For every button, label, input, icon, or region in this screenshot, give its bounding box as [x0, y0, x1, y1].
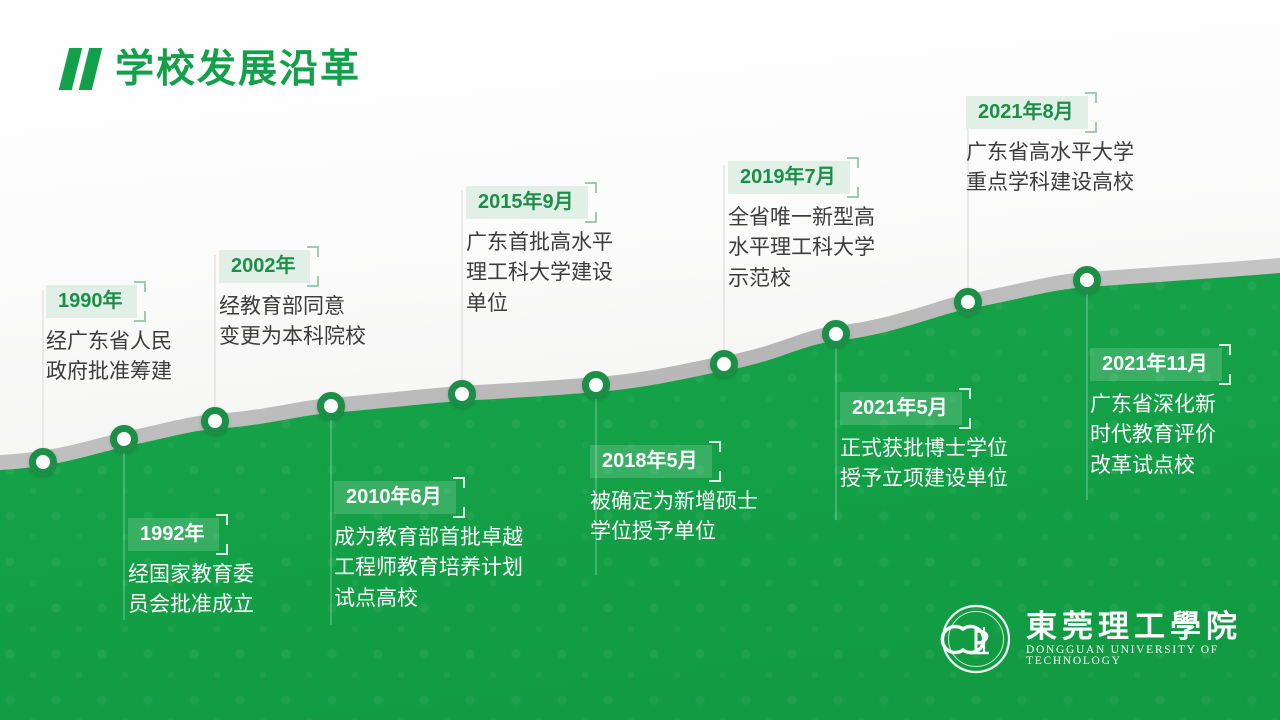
timeline-event-date: 2021年11月 — [1090, 348, 1222, 381]
timeline-event-date: 2010年6月 — [334, 481, 456, 514]
timeline-event[interactable]: 2010年6月 成为教育部首批卓越 工程师教育培养计划 试点高校 — [334, 481, 523, 614]
timeline-event-desc: 广东省深化新 时代教育评价 改革试点校 — [1090, 390, 1222, 481]
slide-canvas: 学校发展沿革 1990年 经广东省人民 政府批准筹建 1992年 经国家教育委 … — [0, 0, 1280, 720]
timeline-event[interactable]: 2021年5月 正式获批博士学位 授予立项建设单位 — [840, 392, 1008, 495]
timeline-event-date-text: 1992年 — [140, 523, 205, 545]
timeline-marker[interactable] — [582, 371, 610, 399]
timeline-marker[interactable] — [317, 392, 345, 420]
timeline-event-date: 1990年 — [46, 285, 137, 318]
timeline-event-date: 2021年5月 — [840, 392, 962, 425]
university-name-en: DONGGUAN UNIVERSITY OF TECHNOLOGY — [1026, 645, 1280, 668]
bracket-icon — [1220, 344, 1231, 385]
title-accent-bars-icon — [64, 48, 97, 90]
slide-header: 学校发展沿革 — [64, 48, 361, 90]
university-name-block: 東莞理工學院 DONGGUAN UNIVERSITY OF TECHNOLOGY — [1026, 611, 1280, 668]
bracket-icon — [217, 514, 228, 555]
bracket-icon — [308, 246, 319, 287]
timeline-event-date-text: 2019年7月 — [740, 166, 836, 188]
bracket-icon — [454, 477, 465, 518]
page-title: 学校发展沿革 — [115, 50, 361, 89]
timeline-marker[interactable] — [822, 320, 850, 348]
timeline-event-date: 2019年7月 — [728, 161, 850, 194]
timeline-marker[interactable] — [1073, 266, 1101, 294]
bracket-icon — [710, 441, 721, 482]
timeline-event-date: 2002年 — [219, 250, 310, 283]
timeline-event[interactable]: 1992年 经国家教育委 员会批准成立 — [128, 518, 254, 621]
timeline-event-date: 2021年8月 — [966, 96, 1088, 129]
university-name-cn: 東莞理工學院 — [1026, 611, 1280, 642]
timeline-event-date-text: 2021年5月 — [852, 397, 948, 419]
timeline-event-desc: 经国家教育委 员会批准成立 — [128, 560, 254, 621]
timeline-event-desc: 被确定为新增硕士 学位授予单位 — [590, 487, 758, 548]
timeline-event-date-text: 2015年9月 — [478, 191, 574, 213]
bracket-icon — [848, 157, 859, 198]
timeline-event[interactable]: 2018年5月 被确定为新增硕士 学位授予单位 — [590, 445, 758, 548]
timeline-event-date-text: 2018年5月 — [602, 450, 698, 472]
timeline-event[interactable]: 2021年8月 广东省高水平大学 重点学科建设高校 — [966, 96, 1134, 199]
timeline-event[interactable]: 2002年 经教育部同意 变更为本科院校 — [219, 250, 366, 353]
timeline-event-date: 2018年5月 — [590, 445, 712, 478]
timeline-event-desc: 正式获批博士学位 授予立项建设单位 — [840, 434, 1008, 495]
timeline-marker[interactable] — [710, 350, 738, 378]
timeline-event-date: 1992年 — [128, 518, 219, 551]
university-logo: 東莞理工學院 DONGGUAN UNIVERSITY OF TECHNOLOGY — [940, 603, 1280, 675]
timeline-event[interactable]: 1990年 经广东省人民 政府批准筹建 — [46, 285, 172, 388]
timeline-event-date: 2015年9月 — [466, 186, 588, 219]
timeline-event-date-text: 1990年 — [58, 290, 123, 312]
timeline-marker[interactable] — [954, 288, 982, 316]
timeline-event-desc: 广东省高水平大学 重点学科建设高校 — [966, 138, 1134, 199]
timeline-event[interactable]: 2019年7月 全省唯一新型高 水平理工科大学 示范校 — [728, 161, 875, 294]
timeline-marker[interactable] — [110, 425, 138, 453]
timeline-event-date-text: 2010年6月 — [346, 486, 442, 508]
timeline-event-desc: 经教育部同意 变更为本科院校 — [219, 292, 366, 353]
timeline-event-desc: 经广东省人民 政府批准筹建 — [46, 327, 172, 388]
timeline-event-desc: 全省唯一新型高 水平理工科大学 示范校 — [728, 203, 875, 294]
university-seal-icon — [940, 603, 1012, 675]
bracket-icon — [1086, 92, 1097, 133]
timeline-event-date-text: 2021年11月 — [1102, 353, 1208, 375]
timeline-event-desc: 广东首批高水平 理工科大学建设 单位 — [466, 228, 613, 319]
timeline-event[interactable]: 2021年11月 广东省深化新 时代教育评价 改革试点校 — [1090, 348, 1222, 481]
timeline-marker[interactable] — [448, 380, 476, 408]
bracket-icon — [135, 281, 146, 322]
bracket-icon — [960, 388, 971, 429]
timeline-marker[interactable] — [201, 407, 229, 435]
timeline-event-date-text: 2021年8月 — [978, 101, 1074, 123]
timeline-marker[interactable] — [29, 448, 57, 476]
timeline-event[interactable]: 2015年9月 广东首批高水平 理工科大学建设 单位 — [466, 186, 613, 319]
timeline-event-date-text: 2002年 — [231, 255, 296, 277]
timeline-event-desc: 成为教育部首批卓越 工程师教育培养计划 试点高校 — [334, 523, 523, 614]
bracket-icon — [586, 182, 597, 223]
